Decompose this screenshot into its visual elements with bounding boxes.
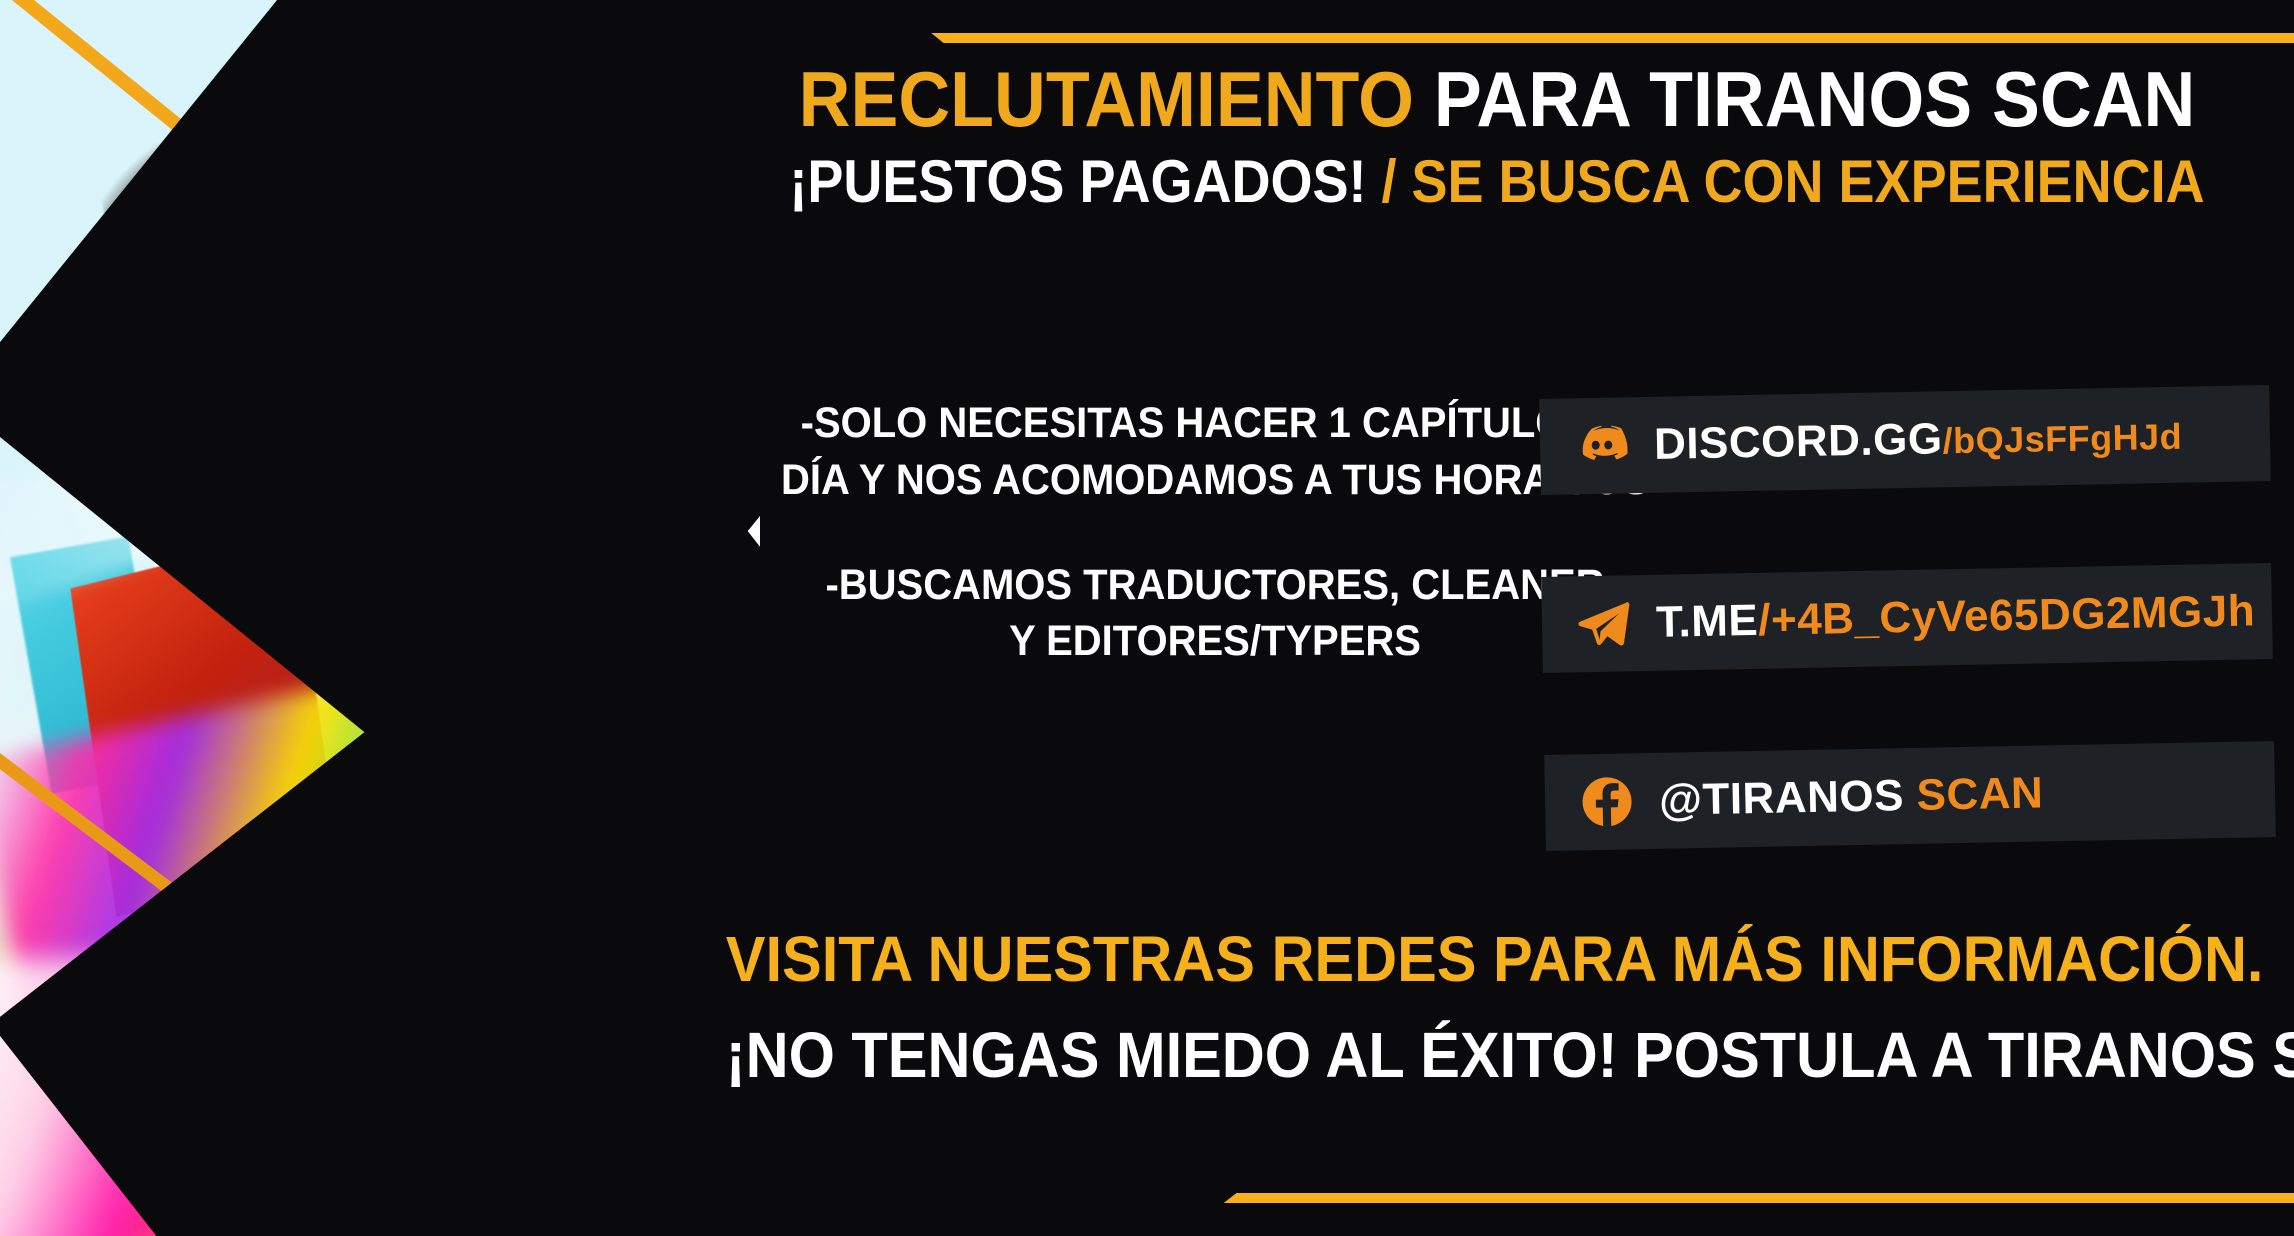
contact-facebook[interactable]: @TIRANOS SCAN [1544,741,2276,851]
recruitment-banner: RECLUTAMIENTO PARA TIRANOS SCAN ¡PUESTOS… [0,0,2294,1236]
contact-facebook-handle: @TIRANOS [1659,771,1905,825]
contact-facebook-suffix: SCAN [1903,768,2043,820]
headline-secondary-gold: SE BUSCA CON EXPERIENCIA [1411,148,2204,215]
contact-telegram-label: T.ME/+4B_CyVe65DG2MGJh [1656,586,2256,647]
content-column: RECLUTAMIENTO PARA TIRANOS SCAN ¡PUESTOS… [700,0,2294,1236]
cta-line-2: ¡NO TENGAS MIEDO AL ÉXITO! POSTULA A TIR… [726,1018,2208,1092]
headline-secondary: ¡PUESTOS PAGADOS! / SE BUSCA CON EXPERIE… [780,152,2215,212]
artwork-panel [0,0,700,1236]
contact-discord[interactable]: DISCORD.GG/bQJsFFgHJd [1539,385,2271,495]
contact-discord-code: /bQJsFFgHJd [1942,416,2182,462]
headline-secondary-separator: / [1366,148,1411,215]
contact-telegram-domain: T.ME [1656,596,1759,647]
facebook-icon [1579,773,1636,830]
contact-discord-domain: DISCORD.GG [1654,414,1943,469]
headline-secondary-white: ¡PUESTOS PAGADOS! [789,148,1366,215]
headline-primary: RECLUTAMIENTO PARA TIRANOS SCAN [764,60,2230,138]
cta-line-1: VISITA NUESTRAS REDES PARA MÁS INFORMACI… [726,922,2208,996]
telegram-icon [1576,595,1633,652]
contact-facebook-label: @TIRANOS SCAN [1659,768,2044,825]
contact-telegram[interactable]: T.ME/+4B_CyVe65DG2MGJh [1541,563,2273,673]
discord-icon [1574,417,1631,474]
contact-telegram-code: /+4B_CyVe65DG2MGJh [1758,586,2256,645]
headline-primary-white: PARA TIRANOS SCAN [1414,55,2195,143]
headline-primary-gold: RECLUTAMIENTO [799,55,1414,143]
contact-discord-label: DISCORD.GG/bQJsFFgHJd [1654,410,2183,470]
artwork-illustration [0,0,700,1236]
